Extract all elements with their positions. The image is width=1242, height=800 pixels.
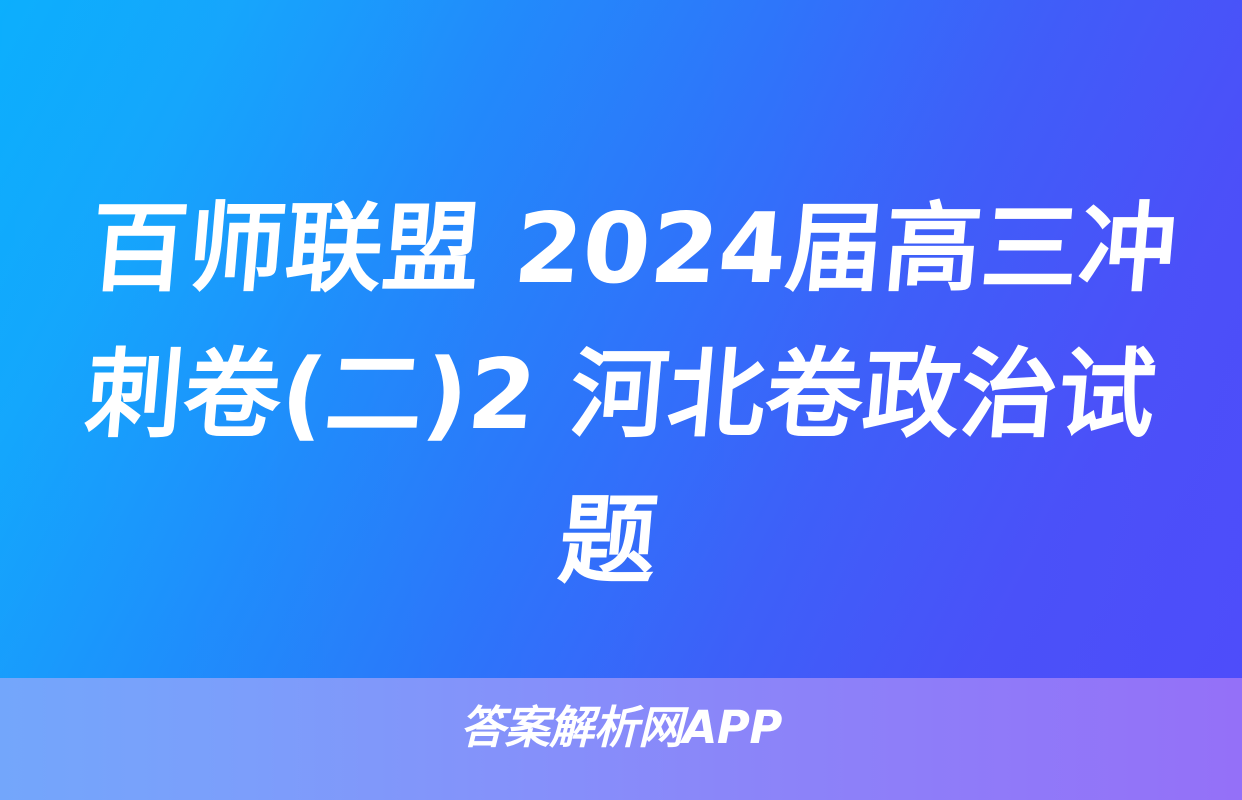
page-title: 百师联盟 2024届高三冲刺卷(二)2 河北卷政治试题 [0,176,1242,614]
watermark-container: 答案解析网APP [0,697,1242,759]
watermark-label: 答案解析网APP [460,697,782,759]
title-text: 百师联盟 2024届高三冲刺卷(二)2 河北卷政治试题 [33,176,1209,614]
poster-background: 百师联盟 2024届高三冲刺卷(二)2 河北卷政治试题 答案解析网APP [0,0,1242,800]
